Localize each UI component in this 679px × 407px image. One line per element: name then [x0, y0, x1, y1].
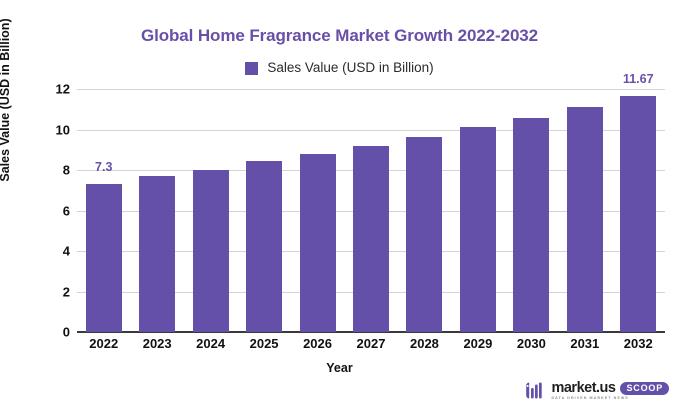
y-axis-tick-label: 2 [26, 284, 70, 299]
watermark-row: market.us SCOOP [551, 381, 669, 396]
y-axis-tick-label: 0 [26, 325, 70, 340]
x-axis-title: Year [0, 361, 679, 375]
bar[interactable] [139, 176, 175, 332]
y-axis-title: Sales Value (USD in Billion) [0, 0, 12, 210]
x-axis-tick-label: 2026 [303, 336, 332, 351]
watermark-badge: SCOOP [620, 382, 669, 395]
watermark-logo: market.us SCOOP DATA DRIVEN MARKET NEWS [525, 381, 669, 401]
x-axis-ticks: 2022202320242025202620272028202920302031… [77, 336, 665, 356]
bar[interactable] [353, 146, 389, 332]
bar[interactable] [620, 96, 656, 332]
bar[interactable] [86, 184, 122, 332]
bar[interactable] [300, 154, 336, 332]
legend-swatch-icon [245, 62, 258, 75]
bar-value-label: 11.67 [623, 72, 654, 86]
bar[interactable] [513, 118, 549, 332]
bar-series: 7.311.67 [77, 89, 665, 332]
watermark-brand: market.us [551, 381, 615, 396]
bar[interactable] [246, 161, 282, 332]
x-axis-tick-label: 2032 [624, 336, 653, 351]
y-axis-tick-label: 10 [26, 122, 70, 137]
chart-title: Global Home Fragrance Market Growth 2022… [0, 26, 679, 46]
x-axis-tick-label: 2024 [196, 336, 225, 351]
bar[interactable] [460, 127, 496, 332]
bar-value-label: 7.3 [95, 160, 112, 174]
x-axis-tick-label: 2025 [250, 336, 279, 351]
watermark-tagline: DATA DRIVEN MARKET NEWS [551, 397, 628, 401]
x-axis-tick-label: 2030 [517, 336, 546, 351]
bar[interactable] [193, 170, 229, 332]
bar[interactable] [567, 107, 603, 332]
legend-item-label: Sales Value (USD in Billion) [267, 61, 433, 75]
x-axis-tick-label: 2027 [357, 336, 386, 351]
y-axis-tick-label: 12 [26, 82, 70, 97]
chart-legend: Sales Value (USD in Billion) [0, 61, 679, 75]
bar-chart: Global Home Fragrance Market Growth 2022… [0, 0, 679, 407]
x-axis-tick-label: 2023 [143, 336, 172, 351]
x-axis-tick-label: 2022 [89, 336, 118, 351]
y-axis-tick-label: 4 [26, 244, 70, 259]
bar-chart-logo-icon [525, 382, 545, 399]
y-axis-tick-label: 6 [26, 203, 70, 218]
x-axis-tick-label: 2029 [463, 336, 492, 351]
bar[interactable] [406, 137, 442, 332]
y-axis-tick-label: 8 [26, 163, 70, 178]
watermark-text: market.us SCOOP DATA DRIVEN MARKET NEWS [551, 381, 669, 401]
x-axis-tick-label: 2031 [570, 336, 599, 351]
x-axis-tick-label: 2028 [410, 336, 439, 351]
